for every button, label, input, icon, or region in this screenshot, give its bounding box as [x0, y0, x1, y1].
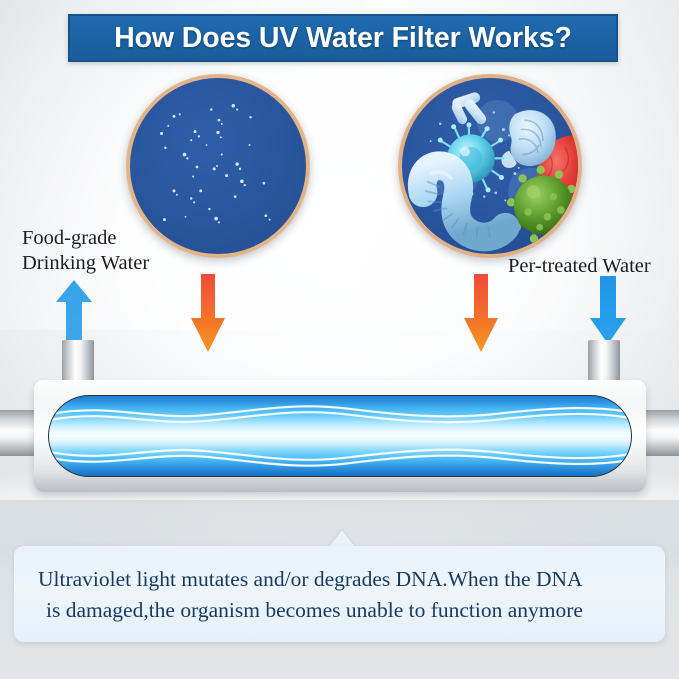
inlet-port-left	[62, 340, 94, 380]
uv-filter-assembly	[0, 338, 679, 518]
callout-line-2: is damaged,the organism becomes unable t…	[30, 595, 649, 626]
pretreated-water-sample-circle	[398, 74, 582, 258]
uv-water-flow-waves	[49, 396, 631, 476]
clean-water-label: Food-grade Drinking Water	[22, 226, 149, 276]
page-title: How Does UV Water Filter Works?	[114, 22, 572, 55]
microorganism-illustration	[402, 78, 578, 254]
blue-worm	[422, 166, 505, 239]
uv-filter-chamber	[48, 395, 632, 477]
clean-water-sample-circle	[126, 74, 310, 258]
inlet-port-right	[588, 340, 620, 380]
callout-pointer	[329, 530, 355, 547]
explanation-callout: Ultraviolet light mutates and/or degrade…	[14, 546, 665, 642]
clean-water-particles	[130, 78, 306, 254]
uv-filter-housing	[34, 380, 646, 492]
clean-water-label-line-1: Food-grade	[22, 226, 149, 251]
title-banner: How Does UV Water Filter Works?	[68, 14, 618, 62]
callout-line-1: Ultraviolet light mutates and/or degrade…	[30, 564, 649, 595]
clean-water-label-line-2: Drinking Water	[22, 251, 149, 276]
